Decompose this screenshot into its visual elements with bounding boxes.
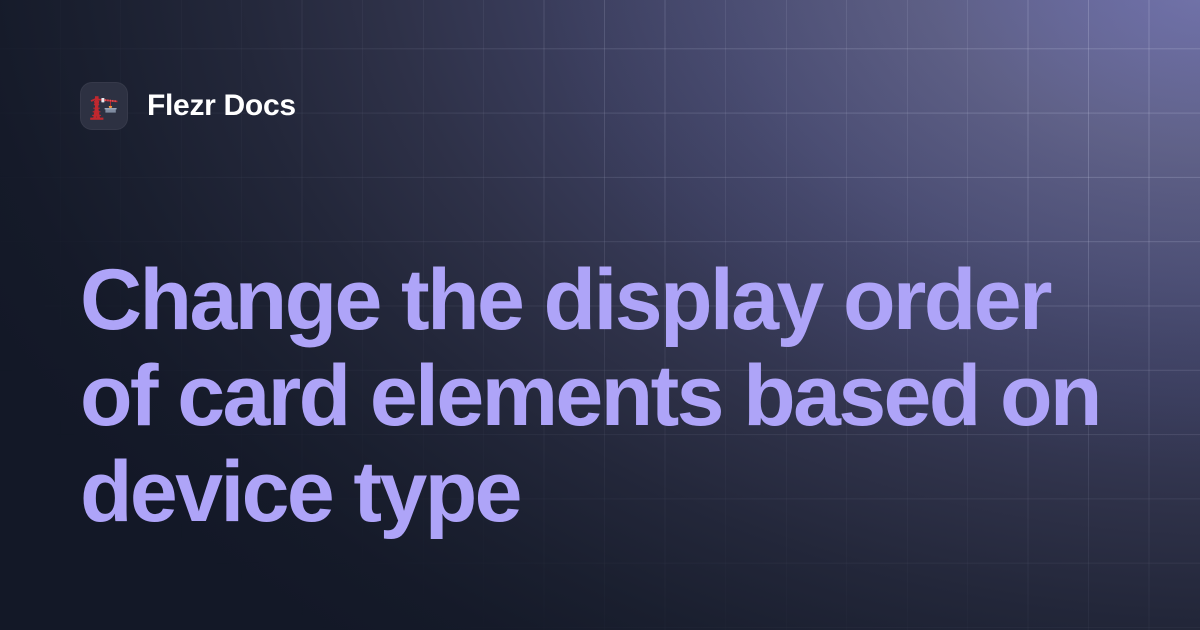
brand-row: Flezr Docs — [80, 82, 296, 130]
og-card: Flezr Docs Change the display order of c… — [0, 0, 1200, 630]
construction-crane-icon — [87, 89, 121, 123]
logo-badge — [80, 82, 128, 130]
brand-name: Flezr Docs — [147, 89, 296, 123]
page-title: Change the display order of card element… — [80, 252, 1120, 540]
